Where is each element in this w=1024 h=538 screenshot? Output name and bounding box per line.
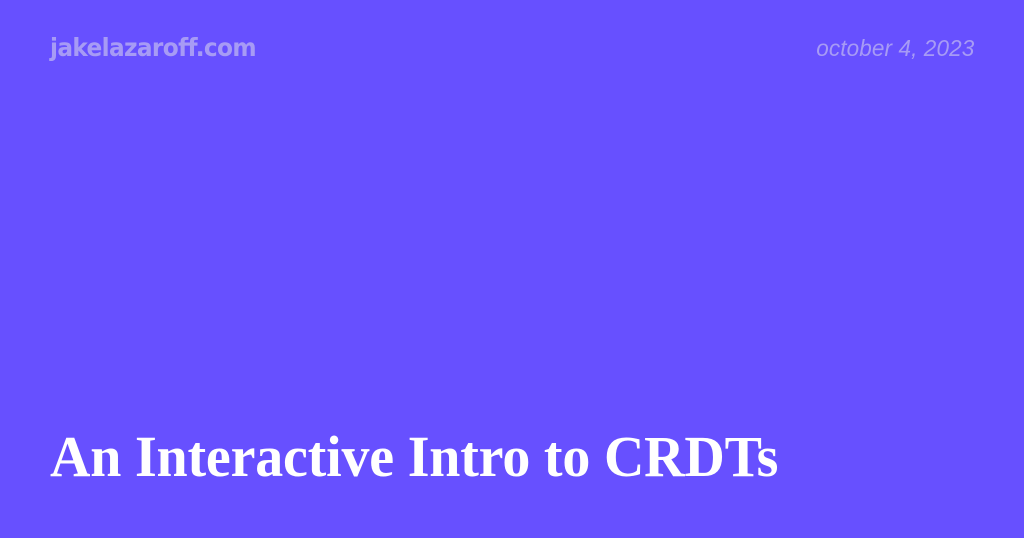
post-date: october 4, 2023 <box>816 33 974 63</box>
social-share-card: jakelazaroff.com october 4, 2023 An Inte… <box>0 0 1024 538</box>
site-logo[interactable]: jakelazaroff.com <box>50 33 256 63</box>
title-block: An Interactive Intro to CRDTs <box>50 426 974 490</box>
card-header: jakelazaroff.com october 4, 2023 <box>50 33 974 67</box>
post-title: An Interactive Intro to CRDTs <box>50 426 942 488</box>
